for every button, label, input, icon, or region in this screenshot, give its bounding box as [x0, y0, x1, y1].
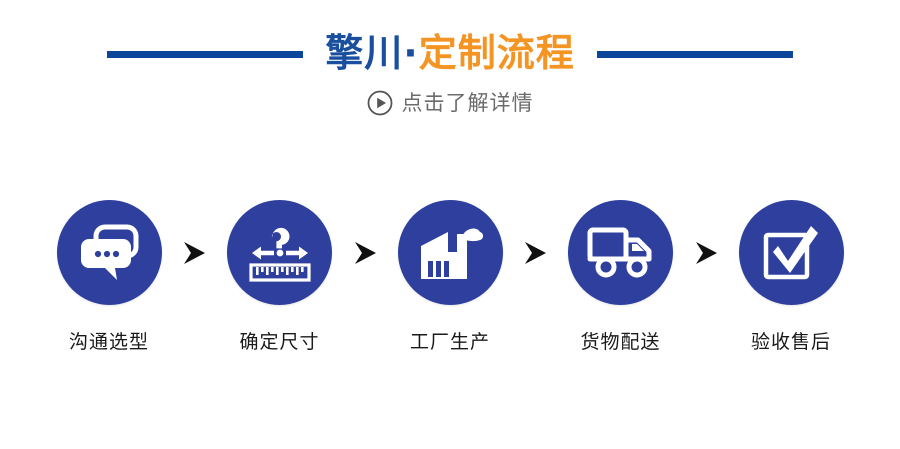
step-connector-arrow — [350, 200, 380, 305]
step-icon-circle[interactable] — [227, 200, 332, 305]
header-rule-left — [107, 51, 303, 58]
subtitle-row[interactable]: 点击了解详情 — [0, 90, 900, 116]
header: 擎川·定制流程 — [0, 24, 900, 84]
process-step[interactable]: 确定尺寸 — [221, 200, 339, 352]
header-rule-right — [597, 51, 793, 58]
checkbox-check-icon — [759, 221, 823, 285]
step-label: 工厂生产 — [410, 333, 490, 352]
custom-process-banner: 擎川·定制流程 点击了解详情 — [0, 0, 900, 449]
arrow-right-icon — [352, 241, 378, 265]
step-connector-arrow — [520, 200, 550, 305]
play-circle-icon[interactable] — [367, 90, 393, 116]
delivery-truck-icon — [586, 224, 656, 282]
process-steps: 沟通选型 — [50, 200, 850, 352]
page-title: 擎川·定制流程 — [325, 34, 574, 75]
step-icon-circle[interactable] — [57, 200, 162, 305]
process-step[interactable]: 货物配送 — [562, 200, 680, 352]
arrow-right-icon — [522, 241, 548, 265]
process-step[interactable]: 工厂生产 — [391, 200, 509, 352]
arrow-right-icon — [181, 241, 207, 265]
process-step[interactable]: 验收售后 — [732, 200, 850, 352]
step-connector-arrow — [179, 200, 209, 305]
step-connector-arrow — [691, 200, 721, 305]
chat-bubbles-icon — [76, 223, 142, 283]
step-label: 沟通选型 — [69, 333, 149, 352]
ruler-measure-icon — [247, 222, 313, 284]
arrow-right-icon — [693, 241, 719, 265]
page-title-brand: 擎川 — [325, 31, 403, 75]
step-label: 验收售后 — [751, 333, 831, 352]
subtitle-text: 点击了解详情 — [402, 93, 534, 114]
step-label: 货物配送 — [580, 333, 660, 352]
page-title-accent: 定制流程 — [419, 31, 575, 75]
step-icon-circle[interactable] — [739, 200, 844, 305]
step-icon-circle[interactable] — [568, 200, 673, 305]
step-icon-circle[interactable] — [398, 200, 503, 305]
step-label: 确定尺寸 — [239, 333, 319, 352]
process-step[interactable]: 沟通选型 — [50, 200, 168, 352]
page-title-separator: · — [403, 31, 418, 75]
factory-icon — [416, 222, 484, 284]
